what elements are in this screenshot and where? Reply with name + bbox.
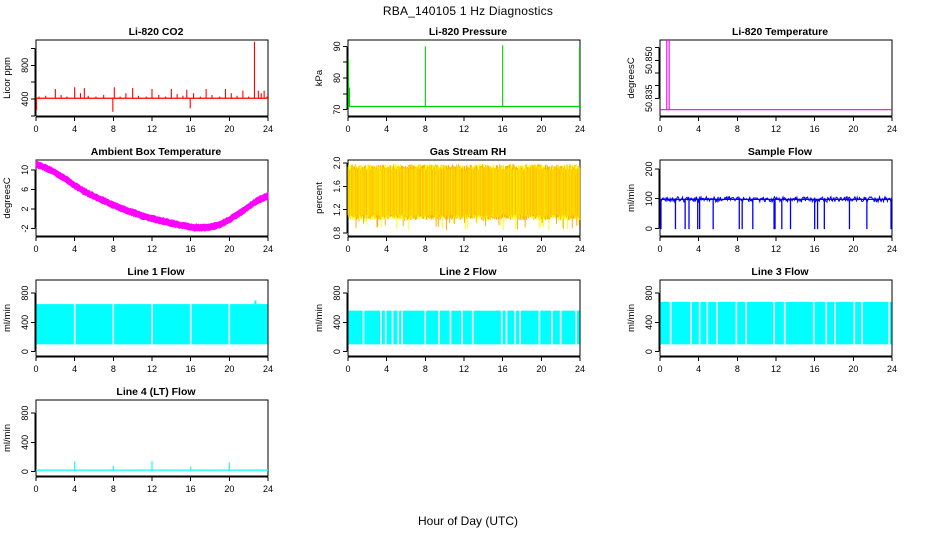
x-tick-label: 12 — [771, 364, 781, 374]
panel-li820-pressure: Li-820 Pressure04812162024708090kPa — [312, 26, 624, 156]
y-tick-label: 70 — [332, 105, 342, 115]
x-tick-label: 4 — [384, 244, 389, 254]
plot-sample-flow: 048121620240100200ml/min — [624, 146, 936, 276]
x-tick-label: 12 — [459, 124, 469, 134]
series-sample-flow — [660, 197, 892, 229]
y-tick-label: 90 — [332, 41, 342, 51]
x-tick-label: 24 — [263, 364, 273, 374]
x-tick-label: 12 — [771, 124, 781, 134]
y-axis-label: ml/min — [314, 304, 325, 332]
x-tick-label: 24 — [887, 124, 897, 134]
x-tick-label: 12 — [459, 364, 469, 374]
y-tick-label: 800 — [20, 406, 30, 421]
y-tick-label: 400 — [20, 435, 30, 450]
plot-line-3-flow: 048121620240400800ml/min — [624, 266, 936, 396]
x-tick-label: 4 — [696, 244, 701, 254]
x-tick-label: 16 — [810, 364, 820, 374]
y-tick-label: 80 — [332, 73, 342, 83]
panel-li820-co2: Li-820 CO204812162024400800Licor ppm — [0, 26, 312, 156]
y-tick-label: 200 — [644, 161, 654, 176]
figure-canvas: RBA_140105 1 Hz Diagnostics Li-820 CO204… — [0, 0, 936, 540]
series-li820-pressure — [348, 45, 580, 106]
x-tick-label: 16 — [498, 124, 508, 134]
x-tick-label: 4 — [72, 364, 77, 374]
x-tick-label: 0 — [33, 244, 38, 254]
x-tick-label: 24 — [575, 124, 585, 134]
x-tick-label: 0 — [345, 124, 350, 134]
series-gas-stream-rh — [348, 164, 580, 230]
x-tick-label: 24 — [263, 484, 273, 494]
x-tick-label: 24 — [575, 364, 585, 374]
x-tick-label: 20 — [536, 244, 546, 254]
x-tick-label: 8 — [111, 244, 116, 254]
y-axis-label: degreesC — [626, 57, 637, 98]
y-tick-label: 0 — [20, 349, 30, 354]
x-tick-label: 12 — [147, 484, 157, 494]
x-tick-label: 20 — [848, 124, 858, 134]
plot-li820-pressure: 04812162024708090kPa — [312, 26, 624, 156]
y-tick-label: 2 — [20, 207, 30, 212]
x-tick-label: 24 — [887, 244, 897, 254]
x-tick-label: 16 — [498, 244, 508, 254]
panel-line-1-flow: Line 1 Flow048121620240400800ml/min — [0, 266, 312, 396]
x-tick-label: 8 — [735, 124, 740, 134]
x-tick-label: 16 — [810, 124, 820, 134]
x-tick-label: 0 — [345, 244, 350, 254]
y-tick-label: 50.850 — [644, 47, 654, 75]
plot-li820-temperature: 0481216202450.83550.850degreesC — [624, 26, 936, 156]
panel-ambient-box-temperature: Ambient Box Temperature04812162024-22610… — [0, 146, 312, 276]
x-tick-label: 16 — [186, 244, 196, 254]
x-tick-label: 0 — [33, 484, 38, 494]
figure-title: RBA_140105 1 Hz Diagnostics — [0, 4, 936, 18]
series-line-3-flow — [660, 302, 891, 344]
y-axis-label: degreesC — [2, 177, 13, 218]
series-line-4-lt-flow — [36, 461, 268, 470]
x-tick-label: 8 — [111, 124, 116, 134]
y-tick-label: 800 — [20, 58, 30, 73]
plot-line-4-lt-flow: 048121620240400800ml/min — [0, 386, 312, 516]
panel-li820-temperature: Li-820 Temperature0481216202450.83550.85… — [624, 26, 936, 156]
y-axis-label: ml/min — [626, 304, 637, 332]
x-tick-label: 4 — [72, 244, 77, 254]
panel-line-2-flow: Line 2 Flow048121620240400800ml/min — [312, 266, 624, 396]
x-tick-label: 0 — [657, 244, 662, 254]
x-tick-label: 20 — [848, 244, 858, 254]
y-tick-label: 0.8 — [332, 227, 342, 240]
y-tick-label: 6 — [20, 187, 30, 192]
y-axis-label: percent — [314, 182, 325, 214]
y-tick-label: 400 — [332, 315, 342, 330]
figure-x-axis-label: Hour of Day (UTC) — [0, 514, 936, 528]
y-tick-label: -2 — [20, 225, 30, 233]
x-tick-label: 16 — [498, 364, 508, 374]
x-tick-label: 16 — [186, 484, 196, 494]
x-tick-label: 4 — [696, 364, 701, 374]
x-tick-label: 8 — [423, 364, 428, 374]
series-line-2-flow — [348, 311, 579, 345]
x-tick-label: 4 — [696, 124, 701, 134]
y-tick-label: 800 — [332, 286, 342, 301]
x-tick-label: 12 — [147, 124, 157, 134]
y-tick-label: 400 — [20, 92, 30, 107]
x-tick-label: 12 — [459, 244, 469, 254]
y-axis-label: ml/min — [2, 304, 13, 332]
x-tick-label: 20 — [536, 124, 546, 134]
x-tick-label: 24 — [575, 244, 585, 254]
x-tick-label: 4 — [72, 124, 77, 134]
x-tick-label: 12 — [147, 244, 157, 254]
x-tick-label: 20 — [224, 124, 234, 134]
x-tick-label: 16 — [186, 124, 196, 134]
y-tick-label: 0 — [644, 349, 654, 354]
plot-gas-stream-rh: 048121620240.81.21.62.0percent — [312, 146, 624, 276]
x-tick-label: 0 — [657, 124, 662, 134]
x-tick-label: 8 — [111, 484, 116, 494]
x-tick-label: 20 — [224, 364, 234, 374]
y-axis-label: kPa — [314, 69, 325, 86]
y-tick-label: 400 — [20, 315, 30, 330]
x-tick-label: 12 — [771, 244, 781, 254]
y-tick-label: 10 — [20, 165, 30, 175]
x-tick-label: 4 — [72, 484, 77, 494]
x-tick-label: 4 — [384, 364, 389, 374]
panel-line-3-flow: Line 3 Flow048121620240400800ml/min — [624, 266, 936, 396]
plot-li820-co2: 04812162024400800Licor ppm — [0, 26, 312, 156]
x-tick-label: 16 — [810, 244, 820, 254]
x-tick-label: 4 — [384, 124, 389, 134]
x-tick-label: 24 — [263, 124, 273, 134]
panel-line-4-lt-flow: Line 4 (LT) Flow048121620240400800ml/min — [0, 386, 312, 516]
y-tick-label: 50.835 — [644, 85, 654, 113]
x-tick-label: 24 — [263, 244, 273, 254]
y-tick-label: 1.6 — [332, 180, 342, 193]
series-li820-temperature — [660, 40, 892, 110]
x-tick-label: 16 — [186, 364, 196, 374]
y-axis-label: ml/min — [626, 184, 637, 212]
panel-sample-flow: Sample Flow048121620240100200ml/min — [624, 146, 936, 276]
plot-line-1-flow: 048121620240400800ml/min — [0, 266, 312, 396]
series-ambient-box-temperature — [36, 161, 268, 232]
x-tick-label: 8 — [423, 124, 428, 134]
x-tick-label: 20 — [224, 484, 234, 494]
x-tick-label: 20 — [224, 244, 234, 254]
y-tick-label: 1.2 — [332, 203, 342, 216]
x-tick-label: 20 — [848, 364, 858, 374]
series-line-1-flow — [36, 300, 267, 344]
x-tick-label: 12 — [147, 364, 157, 374]
y-tick-label: 0 — [644, 226, 654, 231]
y-tick-label: 100 — [644, 191, 654, 206]
x-tick-label: 8 — [735, 364, 740, 374]
x-tick-label: 0 — [33, 364, 38, 374]
panel-gas-stream-rh: Gas Stream RH048121620240.81.21.62.0perc… — [312, 146, 624, 276]
x-tick-label: 8 — [111, 364, 116, 374]
y-axis-label: ml/min — [2, 424, 13, 452]
x-tick-label: 20 — [536, 364, 546, 374]
y-tick-label: 800 — [20, 286, 30, 301]
plot-line-2-flow: 048121620240400800ml/min — [312, 266, 624, 396]
y-tick-label: 0 — [332, 349, 342, 354]
y-tick-label: 400 — [644, 315, 654, 330]
y-tick-label: 0 — [20, 469, 30, 474]
y-axis-label: Licor ppm — [2, 57, 13, 99]
x-tick-label: 8 — [423, 244, 428, 254]
series-li820-co2 — [36, 42, 268, 112]
y-tick-label: 800 — [644, 286, 654, 301]
y-tick-label: 2.0 — [332, 157, 342, 170]
x-tick-label: 8 — [735, 244, 740, 254]
x-tick-label: 0 — [33, 124, 38, 134]
x-tick-label: 0 — [345, 364, 350, 374]
x-tick-label: 24 — [887, 364, 897, 374]
plot-ambient-box-temperature: 04812162024-22610degreesC — [0, 146, 312, 276]
x-tick-label: 0 — [657, 364, 662, 374]
